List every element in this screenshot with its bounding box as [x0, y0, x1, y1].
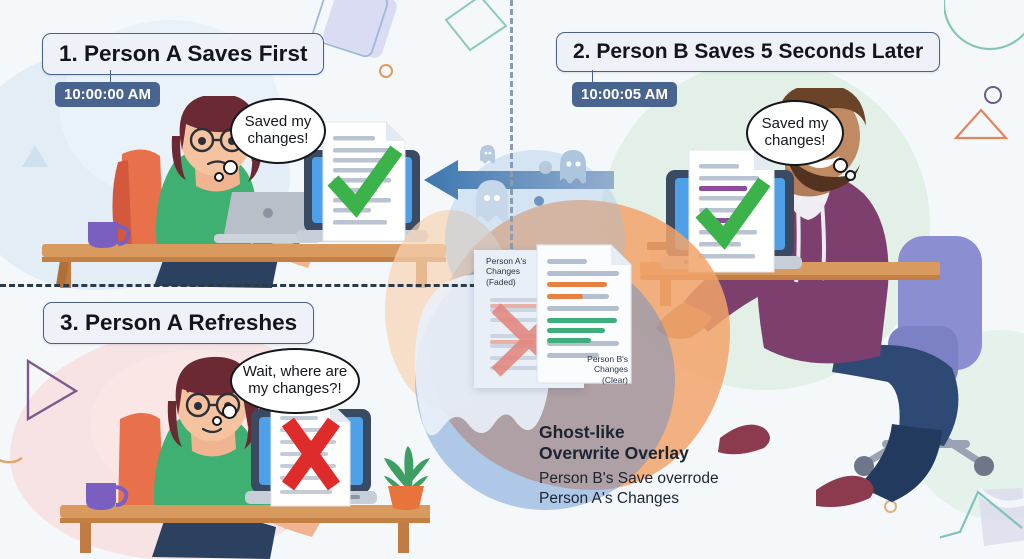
decor-arc-orange-icon	[0, 418, 42, 464]
caption-sub-line-1: Person B's Save overrode	[539, 469, 719, 489]
ghost-icon-small-3	[472, 178, 512, 226]
infographic-canvas: Saved my changes! 1. Person A Saves Firs…	[0, 0, 1024, 559]
thought-bubble-dot-small	[845, 170, 856, 181]
thought-bubble-dot-small	[214, 172, 224, 182]
panel-1-header: 1. Person A Saves First	[42, 33, 324, 75]
decor-ring-teal-icon	[944, 0, 1024, 68]
thought-bubble-dot-large	[222, 404, 237, 419]
thought-bubble-dot-large	[223, 160, 238, 175]
ghost-dot-1	[539, 161, 552, 174]
caption-heading-line-2: Overwrite Overlay	[539, 443, 689, 464]
bubble-line-1: Wait, where are	[243, 364, 347, 381]
panel-3-header: 3. Person A Refreshes	[43, 302, 314, 344]
ghost-icon-small-2	[557, 148, 589, 186]
thought-bubble-panel-2: Saved my changes!	[746, 100, 844, 166]
bubble-line-2: my changes?!	[243, 381, 347, 398]
overlay-caption-heading: Ghost-like Overwrite Overlay	[539, 422, 689, 465]
clear-doc-label-line-1: Person B's	[566, 354, 628, 364]
clear-doc-label-line-3: (Clear)	[566, 375, 628, 385]
panel-2-timestamp-label: 10:00:05 AM	[581, 86, 668, 103]
panel-2-header-label: 2. Person B Saves 5 Seconds Later	[573, 40, 923, 63]
thought-bubble-panel-3: Wait, where are my changes?!	[230, 348, 360, 414]
thought-bubble-dot-small	[212, 416, 222, 426]
horizontal-divider	[0, 284, 512, 287]
panel-2-header: 2. Person B Saves 5 Seconds Later	[556, 32, 940, 72]
panel-3-header-label: 3. Person A Refreshes	[60, 310, 297, 335]
caption-sub-line-2: Person A's Changes	[539, 489, 719, 509]
bubble-line-2: changes!	[762, 133, 829, 150]
bubble-line-1: Saved my	[245, 114, 312, 131]
decor-circle-orange-icon	[379, 64, 393, 78]
clear-doc-label-line-2: Changes	[566, 364, 628, 374]
panel-2-timestamp: 10:00:05 AM	[572, 82, 677, 107]
caption-heading-line-1: Ghost-like	[539, 422, 689, 443]
thought-bubble-panel-1: Saved my changes!	[230, 98, 326, 164]
ghost-icon-small-1	[480, 144, 496, 164]
panel-1-timestamp-label: 10:00:00 AM	[64, 86, 151, 103]
document-panel-1-saved	[320, 120, 408, 244]
bubble-line-2: changes!	[245, 131, 312, 148]
panel-1-timestamp: 10:00:00 AM	[55, 82, 160, 107]
document-panel-3-lost	[268, 400, 354, 508]
panel-1-header-label: 1. Person A Saves First	[59, 41, 307, 66]
overlay-caption-sub: Person B's Save overrode Person A's Chan…	[539, 469, 719, 509]
ghost-dot-2	[534, 196, 544, 206]
decor-quad-green-icon	[436, 0, 516, 62]
vertical-divider	[510, 0, 513, 285]
bubble-line-1: Saved my	[762, 116, 829, 133]
clear-doc-label: Person B's Changes (Clear)	[566, 354, 628, 385]
